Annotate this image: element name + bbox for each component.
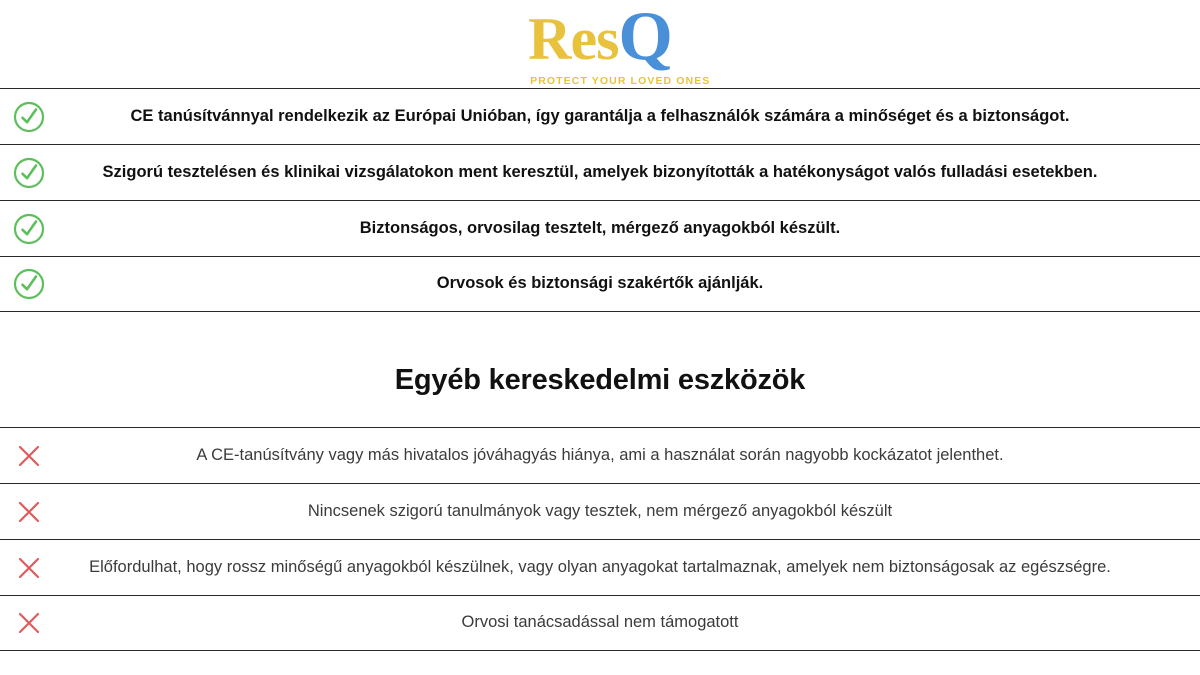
brand-wordmark-q: Q [618, 0, 671, 75]
cons-list: A CE-tanúsítvány vagy más hivatalos jóvá… [0, 427, 1200, 651]
con-row-2: Nincsenek szigorú tanulmányok vagy teszt… [0, 483, 1200, 539]
pro-row-text: CE tanúsítvánnyal rendelkezik az Európai… [131, 106, 1070, 128]
con-row-3: Előfordulhat, hogy rossz minőségű anyago… [0, 539, 1200, 595]
brand-logo-area: ResQ PROTECT YOUR LOVED ONES [0, 0, 1200, 88]
brand-wordmark: ResQ [528, 2, 672, 72]
pros-list: CE tanúsítvánnyal rendelkezik az Európai… [0, 88, 1200, 312]
section-heading: Egyéb kereskedelmi eszközök [0, 312, 1200, 427]
check-circle-icon [12, 100, 46, 134]
check-circle-icon [12, 267, 46, 301]
cross-icon [12, 495, 46, 529]
con-row-text: Előfordulhat, hogy rossz minőségű anyago… [89, 557, 1111, 579]
cross-icon [12, 439, 46, 473]
pro-row-text: Orvosok és biztonsági szakértők ajánlják… [437, 273, 763, 295]
pro-row-1: CE tanúsítvánnyal rendelkezik az Európai… [0, 88, 1200, 144]
pro-row-text: Szigorú tesztelésen és klinikai vizsgála… [103, 162, 1098, 184]
con-row-text: Orvosi tanácsadással nem támogatott [462, 612, 739, 634]
pro-row-3: Biztonságos, orvosilag tesztelt, mérgező… [0, 200, 1200, 256]
pro-row-text: Biztonságos, orvosilag tesztelt, mérgező… [360, 218, 840, 240]
pro-row-2: Szigorú tesztelésen és klinikai vizsgála… [0, 144, 1200, 200]
pro-row-4: Orvosok és biztonsági szakértők ajánlják… [0, 256, 1200, 312]
cross-icon [12, 551, 46, 585]
brand-logo: ResQ PROTECT YOUR LOVED ONES [528, 2, 672, 86]
con-row-text: Nincsenek szigorú tanulmányok vagy teszt… [308, 501, 892, 523]
brand-wordmark-res: Res [528, 6, 618, 72]
con-row-4: Orvosi tanácsadással nem támogatott [0, 595, 1200, 651]
con-row-text: A CE-tanúsítvány vagy más hivatalos jóvá… [196, 445, 1003, 467]
con-row-1: A CE-tanúsítvány vagy más hivatalos jóvá… [0, 427, 1200, 483]
check-circle-icon [12, 212, 46, 246]
brand-tagline: PROTECT YOUR LOVED ONES [530, 76, 710, 87]
check-circle-icon [12, 156, 46, 190]
cross-icon [12, 606, 46, 640]
